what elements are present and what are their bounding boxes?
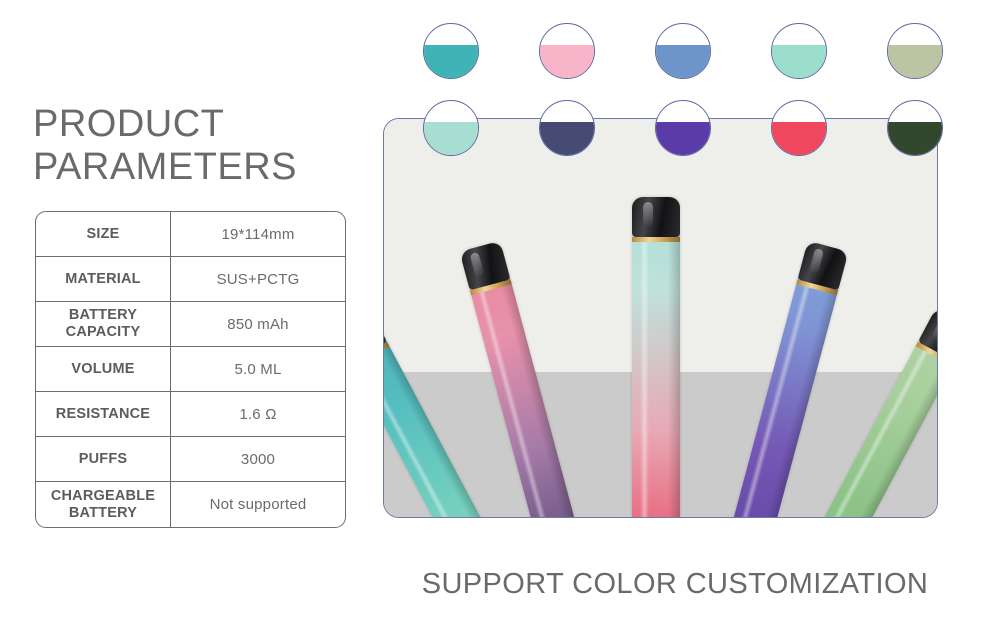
color-swatch-crimson[interactable] xyxy=(771,100,827,156)
page-title: PRODUCT PARAMETERS xyxy=(33,103,363,190)
device-gold-ring xyxy=(632,237,680,242)
color-showcase-section: SUPPORT COLOR CUSTOMIZATION xyxy=(375,0,1000,619)
color-swatch-steel-blue[interactable] xyxy=(655,23,711,79)
page-title-line-1: PRODUCT xyxy=(33,103,363,146)
color-swatch-fill xyxy=(888,45,942,78)
spec-value: SUS+PCTG xyxy=(171,257,345,301)
spec-value: 19*114mm xyxy=(171,212,345,256)
color-swatch-aqua-mint[interactable] xyxy=(423,100,479,156)
spec-value: Not supported xyxy=(171,482,345,527)
color-swatch-fill xyxy=(424,45,478,78)
product-parameters-page: PRODUCT PARAMETERS SIZE19*114mmMATERIALS… xyxy=(0,0,1000,619)
table-row: BATTERY CAPACITY850 mAh xyxy=(36,302,345,347)
product-parameters-section: PRODUCT PARAMETERS SIZE19*114mmMATERIALS… xyxy=(0,0,375,619)
color-swatch-fill xyxy=(772,122,826,155)
device-mint-red xyxy=(632,197,680,518)
showcase-caption: SUPPORT COLOR CUSTOMIZATION xyxy=(375,568,975,601)
spec-label: MATERIAL xyxy=(36,257,171,301)
spec-value: 1.6 Ω xyxy=(171,392,345,436)
product-photo-panel xyxy=(383,118,938,518)
spec-value: 3000 xyxy=(171,437,345,481)
specification-table: SIZE19*114mmMATERIALSUS+PCTGBATTERY CAPA… xyxy=(35,211,346,528)
device-body xyxy=(632,197,680,518)
color-swatch-forest-green[interactable] xyxy=(887,100,943,156)
spec-label: RESISTANCE xyxy=(36,392,171,436)
color-swatch-purple[interactable] xyxy=(655,100,711,156)
color-swatch-navy[interactable] xyxy=(539,100,595,156)
device-mouthpiece xyxy=(632,197,680,237)
table-row: PUFFS3000 xyxy=(36,437,345,482)
spec-label: PUFFS xyxy=(36,437,171,481)
color-swatch-pink[interactable] xyxy=(539,23,595,79)
spec-value: 5.0 ML xyxy=(171,347,345,391)
color-swatch-fill xyxy=(888,122,942,155)
color-swatch-teal[interactable] xyxy=(423,23,479,79)
table-row: RESISTANCE1.6 Ω xyxy=(36,392,345,437)
spec-value: 850 mAh xyxy=(171,302,345,346)
table-row: CHARGEABLE BATTERYNot supported xyxy=(36,482,345,527)
spec-label: BATTERY CAPACITY xyxy=(36,302,171,346)
color-swatch-fill xyxy=(772,45,826,78)
spec-label: CHARGEABLE BATTERY xyxy=(36,482,171,527)
color-swatch-fill xyxy=(424,122,478,155)
color-swatch-sage[interactable] xyxy=(887,23,943,79)
color-swatch-fill xyxy=(540,45,594,78)
table-row: SIZE19*114mm xyxy=(36,212,345,257)
device-shading xyxy=(668,197,680,518)
color-swatch-fill xyxy=(656,122,710,155)
color-swatch-row-bottom xyxy=(423,100,943,156)
color-swatch-fill xyxy=(540,122,594,155)
spec-label: SIZE xyxy=(36,212,171,256)
color-swatch-fill xyxy=(656,45,710,78)
page-title-line-2: PARAMETERS xyxy=(33,146,363,189)
device-highlight xyxy=(640,197,650,518)
color-swatch-mint[interactable] xyxy=(771,23,827,79)
color-swatch-row-top xyxy=(423,23,943,79)
spec-label: VOLUME xyxy=(36,347,171,391)
table-row: MATERIALSUS+PCTG xyxy=(36,257,345,302)
table-row: VOLUME5.0 ML xyxy=(36,347,345,392)
